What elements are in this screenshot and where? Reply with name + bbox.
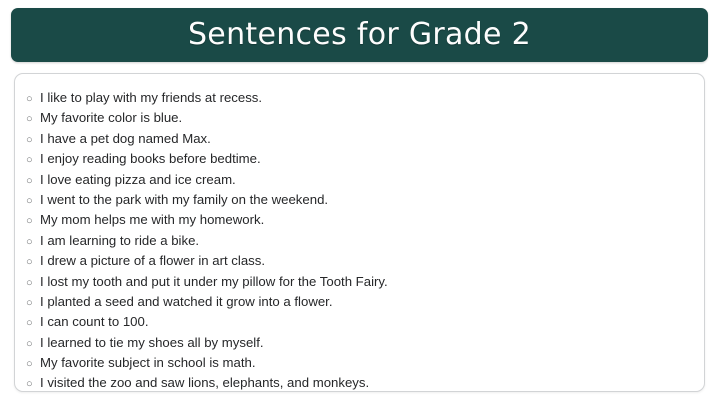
circle-bullet-icon: ○: [26, 313, 40, 333]
circle-bullet-icon: ○: [26, 150, 40, 170]
list-item-text: I visited the zoo and saw lions, elephan…: [40, 373, 704, 392]
circle-bullet-icon: ○: [26, 252, 40, 272]
list-item-text: My favorite color is blue.: [40, 108, 704, 128]
list-item-text: I have a pet dog named Max.: [40, 129, 704, 149]
circle-bullet-icon: ○: [26, 89, 40, 109]
circle-bullet-icon: ○: [26, 109, 40, 129]
list-item: ○ I planted a seed and watched it grow i…: [15, 292, 704, 312]
circle-bullet-icon: ○: [26, 191, 40, 211]
list-item-text: My favorite subject in school is math.: [40, 353, 704, 373]
page-title: Sentences for Grade 2: [188, 20, 531, 50]
list-item-text: I went to the park with my family on the…: [40, 190, 704, 210]
circle-bullet-icon: ○: [26, 273, 40, 293]
list-item-text: I enjoy reading books before bedtime.: [40, 149, 704, 169]
list-item: ○ I learned to tie my shoes all by mysel…: [15, 333, 704, 353]
list-item: ○ My favorite color is blue.: [15, 108, 704, 128]
list-item-text: I am learning to ride a bike.: [40, 231, 704, 251]
sentence-list-card: ○ I like to play with my friends at rece…: [14, 73, 705, 392]
list-item: ○ I am learning to ride a bike.: [15, 231, 704, 251]
circle-bullet-icon: ○: [26, 211, 40, 231]
list-item: ○ I have a pet dog named Max.: [15, 129, 704, 149]
list-item-text: I can count to 100.: [40, 312, 704, 332]
list-item: ○ I can count to 100.: [15, 312, 704, 332]
list-item: ○ I lost my tooth and put it under my pi…: [15, 272, 704, 292]
title-banner: Sentences for Grade 2: [11, 8, 708, 62]
list-item: ○ I like to play with my friends at rece…: [15, 88, 704, 108]
list-item-text: I lost my tooth and put it under my pill…: [40, 272, 704, 292]
list-item: ○ I visited the zoo and saw lions, eleph…: [15, 373, 704, 392]
list-item: ○ I enjoy reading books before bedtime.: [15, 149, 704, 169]
worksheet-page: Sentences for Grade 2 ○ I like to play w…: [0, 0, 720, 404]
list-item: ○ I love eating pizza and ice cream.: [15, 170, 704, 190]
list-item-text: I like to play with my friends at recess…: [40, 88, 704, 108]
list-item: ○ I drew a picture of a flower in art cl…: [15, 251, 704, 271]
circle-bullet-icon: ○: [26, 293, 40, 313]
list-item-text: I love eating pizza and ice cream.: [40, 170, 704, 190]
list-item: ○ I went to the park with my family on t…: [15, 190, 704, 210]
list-item: ○ My favorite subject in school is math.: [15, 353, 704, 373]
sentence-list: ○ I like to play with my friends at rece…: [15, 74, 704, 392]
circle-bullet-icon: ○: [26, 171, 40, 191]
circle-bullet-icon: ○: [26, 130, 40, 150]
list-item-text: I drew a picture of a flower in art clas…: [40, 251, 704, 271]
list-item-text: I learned to tie my shoes all by myself.: [40, 333, 704, 353]
circle-bullet-icon: ○: [26, 354, 40, 374]
circle-bullet-icon: ○: [26, 374, 40, 392]
list-item: ○ My mom helps me with my homework.: [15, 210, 704, 230]
list-item-text: I planted a seed and watched it grow int…: [40, 292, 704, 312]
list-item-text: My mom helps me with my homework.: [40, 210, 704, 230]
circle-bullet-icon: ○: [26, 232, 40, 252]
circle-bullet-icon: ○: [26, 334, 40, 354]
